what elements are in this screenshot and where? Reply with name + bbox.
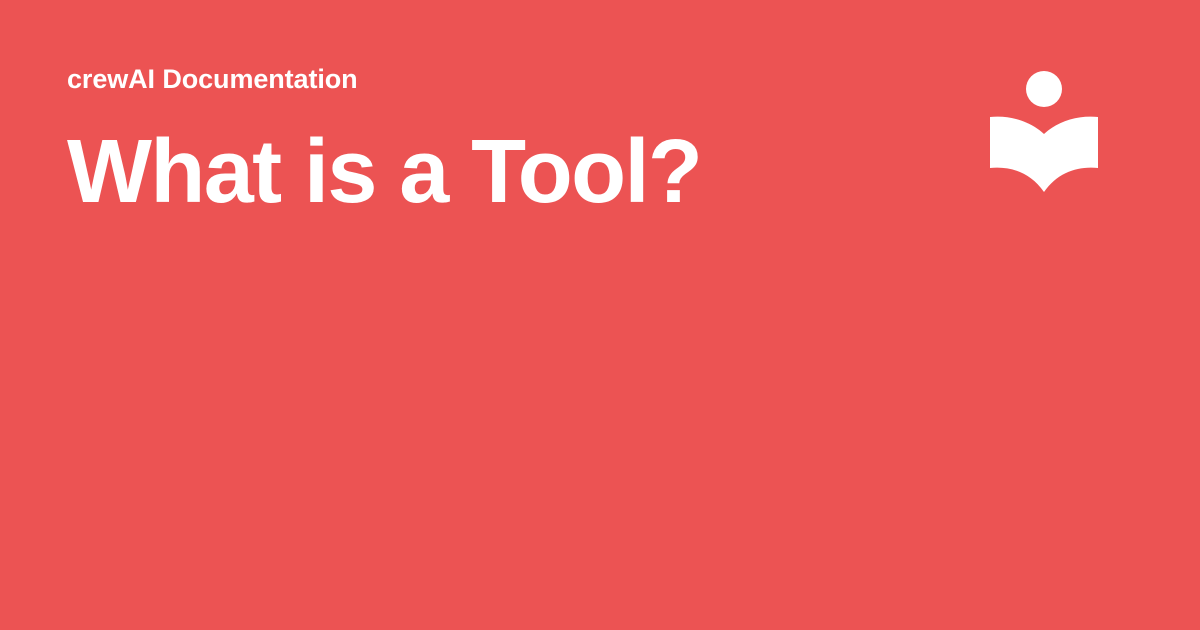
reader-head-circle [1026,71,1062,107]
open-book-reader-icon [986,64,1104,200]
og-preview-card: crewAI Documentation What is a Tool? [0,0,1200,630]
header-text-block: crewAI Documentation What is a Tool? [67,60,927,220]
open-book-shape [990,117,1098,192]
page-title: What is a Tool? [67,124,927,220]
site-name-eyebrow: crewAI Documentation [67,60,927,98]
